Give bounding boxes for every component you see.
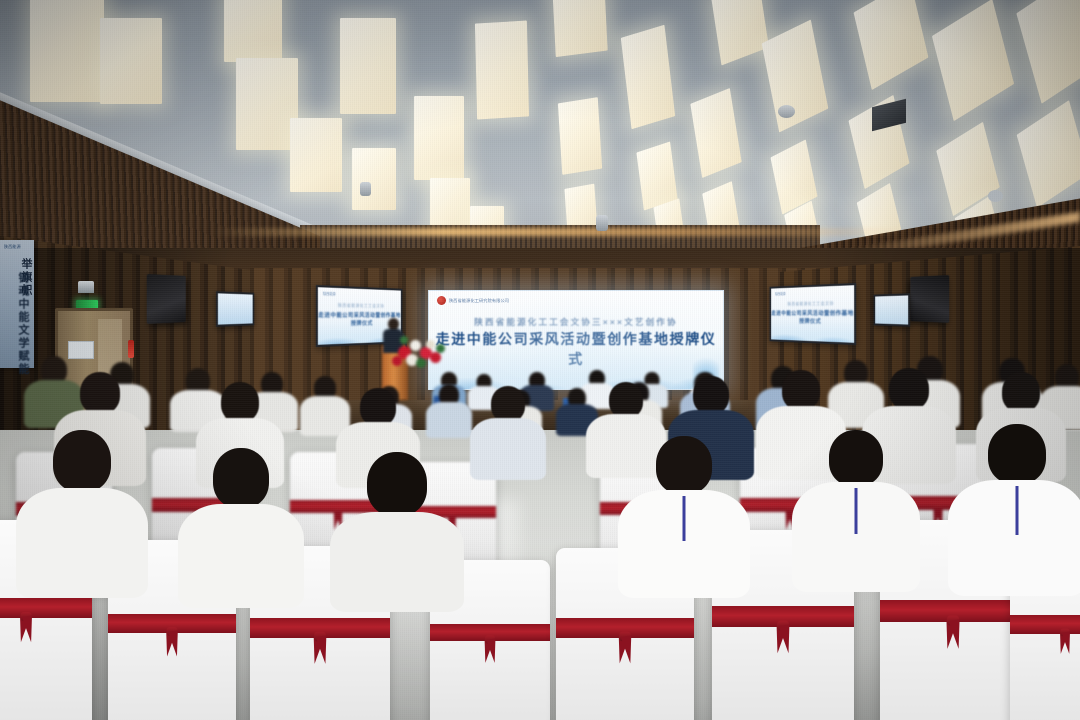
person-head	[656, 436, 712, 494]
person-head	[213, 448, 269, 508]
person-torso	[948, 480, 1080, 596]
person-head	[889, 368, 929, 410]
ceiling-led-panel	[414, 96, 464, 180]
chair-bow-knot	[946, 616, 958, 626]
person-torso	[178, 504, 304, 608]
flower-blossom	[430, 352, 441, 363]
cove-light-glow	[210, 228, 910, 236]
ceiling-led-panel	[690, 88, 741, 178]
chair-bow-knot	[777, 621, 789, 631]
flower-blossom	[426, 340, 435, 349]
audience-member	[178, 448, 304, 612]
side-screen-right-logo: 陕西能源	[775, 291, 785, 296]
person-torso	[426, 402, 472, 438]
flower-blossom	[416, 358, 426, 368]
wall-speaker-right	[910, 275, 949, 323]
smoke-detector-icon	[778, 105, 795, 118]
audience-member	[948, 424, 1080, 600]
chair-bow-knot	[619, 632, 631, 642]
audience-member	[16, 430, 148, 602]
person-head	[693, 376, 729, 414]
ceiling-led-panel	[475, 21, 529, 120]
chair-bow-knot	[20, 612, 31, 621]
audience-member	[426, 384, 472, 442]
flower-blossom	[400, 336, 408, 344]
chair-bow-knot	[1060, 629, 1069, 637]
audience-member	[792, 430, 920, 596]
ceiling-sprinkler-icon	[596, 215, 608, 231]
person-head	[360, 388, 396, 426]
conference-lanyard	[683, 496, 686, 541]
ceiling-led-panel	[1017, 100, 1080, 208]
flower-blossom	[436, 344, 445, 353]
ceiling-led-panel	[340, 18, 396, 114]
chair-bow-knot	[167, 627, 178, 636]
wall-banner-logo: 陕西能源	[4, 244, 21, 250]
ceiling-led-panel	[224, 0, 282, 62]
side-screen-left-subtitle: 陕西省能源化工工会文协	[318, 302, 401, 309]
side-monitor-right	[874, 293, 910, 326]
ceiling-led-panel	[711, 0, 769, 65]
screen-logo-text: 陕西省能源化工研究院有限公司	[449, 298, 509, 304]
ceiling-led-panel	[352, 148, 396, 210]
person-head	[609, 382, 643, 418]
ceiling-led-panel	[762, 19, 829, 132]
ceiling-led-panel	[30, 0, 104, 102]
conference-hall-photo: 陕西能源 举旗帜 铸魂中能文学赋能 陕西省能源化工研究院有限公司 陕西省能源化工…	[0, 0, 1080, 720]
person-torso	[470, 418, 546, 480]
screen-subtitle: 陕西省能源化工工会文协三×××文艺创作协	[429, 316, 723, 328]
ceiling-led-panel	[236, 58, 298, 150]
audience-member	[330, 452, 464, 616]
ceiling-led-panel	[552, 0, 607, 57]
ceiling-speaker-icon	[988, 190, 1003, 202]
ceiling-led-panel	[100, 18, 162, 104]
conference-lanyard	[1016, 486, 1019, 535]
person-head	[1002, 372, 1040, 412]
ceiling-led-panel	[932, 0, 1014, 121]
chair-bow-knot	[314, 632, 326, 642]
side-projection-screen-right: 陕西能源 陕西省能源化工工会文协 走进中能公司采风活动暨创作基地授牌仪式	[770, 283, 857, 345]
person-head	[829, 430, 883, 486]
person-torso	[16, 488, 148, 598]
emergency-light-icon	[78, 281, 94, 293]
side-screen-right-subtitle: 陕西省能源化工工会文协	[771, 300, 854, 307]
person-torso	[330, 512, 464, 612]
ceiling-led-panel	[621, 25, 676, 130]
person-head	[782, 370, 820, 410]
person-head	[367, 452, 427, 516]
audience-member	[470, 386, 546, 484]
side-monitor-left	[216, 291, 254, 327]
wall-speaker-left	[147, 274, 186, 324]
ceiling-led-panel	[558, 97, 602, 175]
audience-member	[618, 436, 750, 602]
person-head	[80, 372, 120, 414]
person-head	[491, 386, 525, 422]
side-screen-right-artwork	[771, 319, 854, 343]
ceiling-led-panel	[1016, 0, 1080, 104]
chair-bow-knot	[934, 505, 943, 512]
person-head	[53, 430, 111, 492]
flower-blossom	[410, 340, 421, 351]
chair-bow-knot	[485, 635, 495, 643]
ceiling-led-panel	[290, 118, 342, 192]
person-head	[221, 382, 259, 422]
ceiling	[0, 0, 1080, 250]
ceiling-sprinkler-icon	[360, 182, 371, 196]
company-logo-icon	[437, 296, 446, 305]
ceiling-led-panel	[853, 0, 928, 90]
fire-extinguisher-icon	[128, 340, 134, 358]
flower-blossom	[392, 356, 402, 366]
conference-lanyard	[855, 488, 858, 534]
screen-logo: 陕西省能源化工研究院有限公司	[437, 296, 509, 305]
side-screen-left-logo: 陕西能源	[323, 291, 336, 297]
person-head	[988, 424, 1046, 484]
